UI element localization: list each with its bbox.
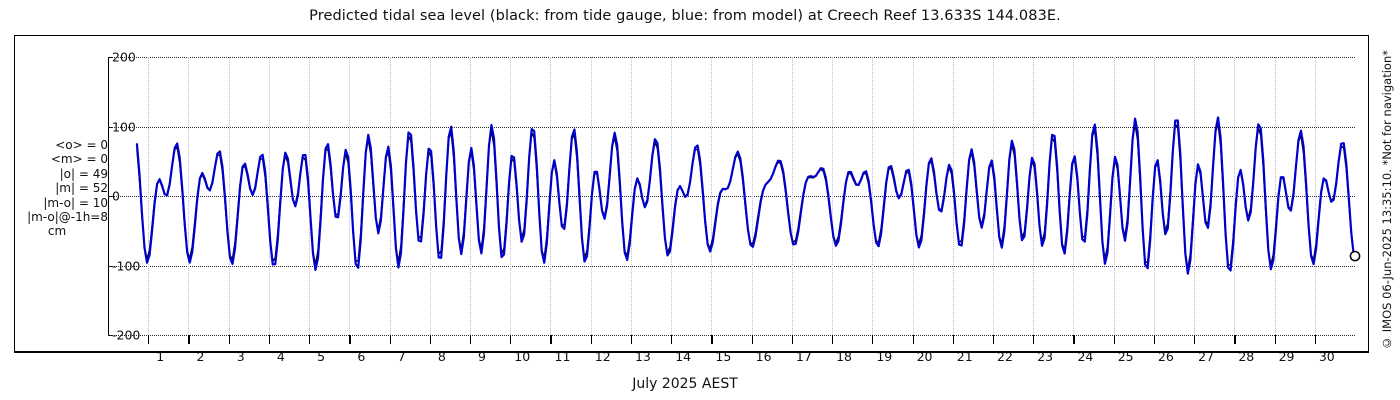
x-axis-tick-mark <box>1114 335 1115 344</box>
x-axis-tick-mark <box>752 335 753 344</box>
copyright-notice: © IMOS 06-Jun-2025 13:35:10. *Not for na… <box>1376 0 1398 400</box>
x-axis-tick-mark <box>832 335 833 344</box>
copyright-text: © IMOS 06-Jun-2025 13:35:10. *Not for na… <box>1380 50 1394 350</box>
stat-difference-lagged: |m-o|@-1h=8 <box>6 210 108 224</box>
x-axis-line <box>14 352 1369 353</box>
statistics-block: <o> = 0 <m> = 0 |o| = 49 |m| = 52 |m-o| … <box>6 138 108 239</box>
x-axis-tick-mark <box>390 335 391 344</box>
x-axis-tick-mark <box>1073 335 1074 344</box>
x-axis-title: July 2025 AEST <box>0 376 1370 392</box>
x-axis-tick-mark <box>1275 335 1276 344</box>
x-axis-tick-mark <box>631 335 632 344</box>
x-axis-tick-mark <box>148 335 149 344</box>
x-axis-tick-mark <box>993 335 994 344</box>
x-axis-tick-mark <box>953 335 954 344</box>
x-axis-tick-mark <box>229 335 230 344</box>
horizontal-gridline <box>108 335 1355 336</box>
model-line <box>137 117 1354 273</box>
stat-units: cm <box>6 224 108 238</box>
x-axis-tick-mark <box>349 335 350 344</box>
x-axis-tick-mark <box>1234 335 1235 344</box>
x-axis-tick-mark <box>913 335 914 344</box>
stat-amplitude-obs: |o| = 49 <box>6 167 108 181</box>
chart-page: Predicted tidal sea level (black: from t… <box>0 0 1400 400</box>
x-axis-tick-mark <box>309 335 310 344</box>
x-axis-tick-mark <box>1315 335 1316 344</box>
tide-series-svg <box>108 57 1355 335</box>
x-axis-tick-mark <box>1033 335 1034 344</box>
x-axis-tick-mark <box>510 335 511 344</box>
x-axis-tick-mark <box>792 335 793 344</box>
x-axis-tick-mark <box>1154 335 1155 344</box>
stat-amplitude-mod: |m| = 52 <box>6 181 108 195</box>
page-title: Predicted tidal sea level (black: from t… <box>0 8 1370 24</box>
x-axis-tick-mark <box>188 335 189 344</box>
stat-mean-mod: <m> = 0 <box>6 152 108 166</box>
stat-difference: |m-o| = 10 <box>6 196 108 210</box>
series-end-marker <box>1350 251 1359 260</box>
x-axis-tick-mark <box>671 335 672 344</box>
x-axis-tick-mark <box>872 335 873 344</box>
x-axis-tick-mark <box>711 335 712 344</box>
x-axis-tick-mark <box>430 335 431 344</box>
x-axis-tick-mark <box>269 335 270 344</box>
x-axis-tick-mark <box>470 335 471 344</box>
stat-mean-obs: <o> = 0 <box>6 138 108 152</box>
x-axis-tick-mark <box>550 335 551 344</box>
x-axis-tick-mark <box>591 335 592 344</box>
x-axis-tick-mark <box>1194 335 1195 344</box>
plot-area: 1234567891011121314151617181920212223242… <box>108 57 1355 335</box>
